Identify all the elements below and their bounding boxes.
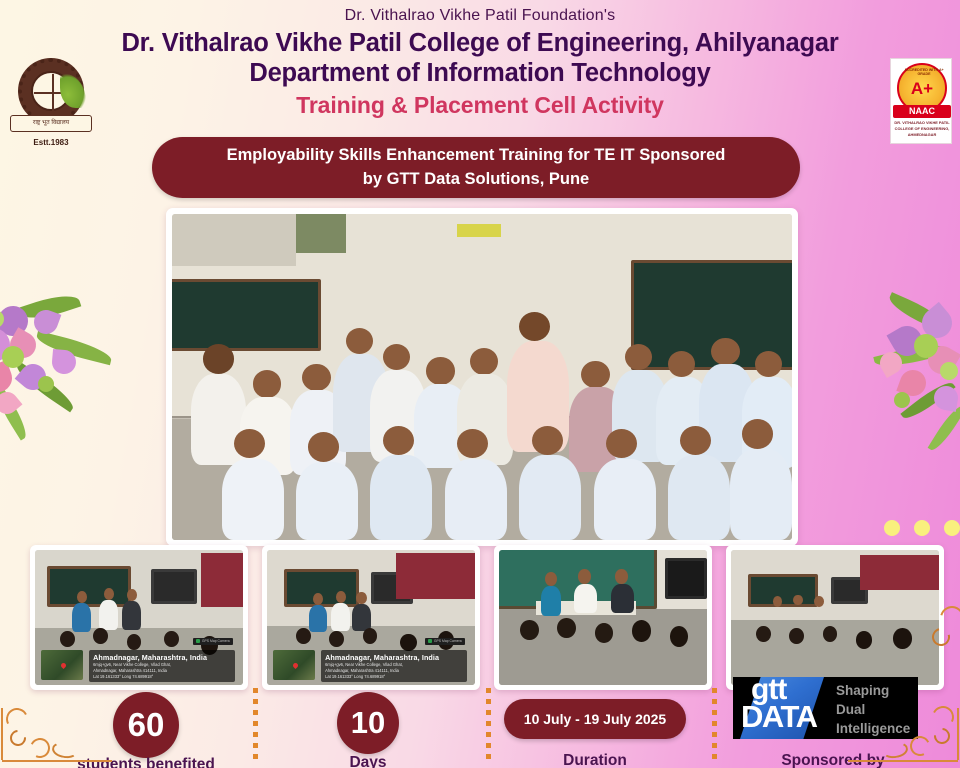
thumbnail-image-1: GPS Map Camera Ahmadnagar, Maharashtra, … [35,550,243,685]
yellow-dot-3 [944,520,960,536]
yellow-dot-2 [914,520,930,536]
gps-latlng-1: Lat 19.161333° Long 74.689918° [93,674,231,679]
stat-days-circle: 10 [337,692,399,754]
foundation-line: Dr. Vithalrao Vikhe Patil Foundation's [0,0,960,25]
gtt-tagline: Shaping Dual Intelligence [836,681,910,738]
event-title-line2: by GTT Data Solutions, Pune [363,168,589,192]
thumbnail-classroom-3[interactable] [494,545,712,690]
cell-activity-line: Training & Placement Cell Activity [0,92,960,119]
yellow-dots-decoration [884,520,960,536]
naac-grade-text: A+ [911,80,933,97]
gps-camera-badge-1: GPS Map Camera [193,638,233,645]
college-name-line1: Dr. Vithalrao Vikhe Patil College of Eng… [0,29,960,59]
gps-camera-badge-2: GPS Map Camera [425,638,465,645]
naac-accreditation-text: ACCREDITED WITH A+ GRADE [899,68,949,76]
gtt-wordmark-bottom: DATA [741,699,817,735]
stat-divider-3 [712,688,717,765]
naac-badge: ACCREDITED WITH A+ GRADE A+ NAAC DR. VIT… [890,58,952,144]
naac-institution-caption: DR. VITHALRAO VIKHE PATIL COLLEGE OF ENG… [893,120,951,138]
gps-city-2: Ahmadnagar, Maharashtra, India [325,653,463,662]
college-emblem-icon: राष्ट्र भूत विद्यालय Estt.1983 [8,58,94,153]
yellow-dot-1 [884,520,900,536]
college-name-line2: Department of Information Technology [0,59,960,89]
stat-students-value: 60 [128,706,165,744]
thumbnail-classroom-1[interactable]: GPS Map Camera Ahmadnagar, Maharashtra, … [30,545,248,690]
gps-overlay-2: Ahmadnagar, Maharashtra, India 6mjq+gv6,… [321,650,467,682]
stat-duration-label: Duration [535,752,655,768]
naac-band-text: NAAC [893,105,951,118]
stat-students-label: students benefited [46,756,246,768]
stat-divider-1 [253,688,258,765]
emblem-ribbon: राष्ट्र भूत विद्यालय [10,115,92,132]
map-pin-icon [292,662,299,669]
event-title-line1: Employability Skills Enhancement Trainin… [227,144,726,168]
flower-decoration-left [0,288,150,458]
gtt-tagline-line2: Dual [836,700,910,719]
stat-students-circle: 60 [113,692,179,758]
stat-duration-value: 10 July - 19 July 2025 [524,711,666,727]
event-title-banner: Employability Skills Enhancement Trainin… [152,137,800,198]
gtt-tagline-line3: Intelligence [836,719,910,738]
emblem-motto: राष्ट्र भूत विद्यालय [11,116,91,130]
gps-badge-dot-icon [196,639,200,643]
gps-badge-label: GPS Map Camera [434,639,462,643]
thumbnail-image-4 [731,550,939,685]
stat-sponsor-label: Sponsored by [758,752,908,768]
stat-days-label: Days [308,754,428,768]
thumbnail-image-2: GPS Map Camera Ahmadnagar, Maharashtra, … [267,550,475,685]
thumbnail-classroom-4[interactable] [726,545,944,690]
gps-city-1: Ahmadnagar, Maharashtra, India [93,653,231,662]
group-photo [166,208,798,546]
gps-minimap-1 [41,650,83,680]
gps-badge-label: GPS Map Camera [202,639,230,643]
gps-badge-dot-icon [428,639,432,643]
gtt-tagline-line1: Shaping [836,681,910,700]
thumbnail-classroom-2[interactable]: GPS Map Camera Ahmadnagar, Maharashtra, … [262,545,480,690]
stat-duration-pill: 10 July - 19 July 2025 [504,699,686,739]
stat-divider-2 [486,688,491,765]
map-pin-icon [60,662,67,669]
emblem-established-year: Estt.1983 [8,138,94,147]
gps-latlng-2: Lat 19.161333° Long 74.689918° [325,674,463,679]
group-photo-image [172,214,792,540]
gps-overlay-1: Ahmadnagar, Maharashtra, India 6mjq+gv6,… [89,650,235,682]
stat-days-value: 10 [351,705,385,741]
gps-minimap-2 [273,650,315,680]
thumbnail-image-3 [499,550,707,685]
flower-decoration-right [868,290,960,470]
sponsor-logo-gtt-data: gtt DATA Shaping Dual Intelligence [733,677,918,739]
